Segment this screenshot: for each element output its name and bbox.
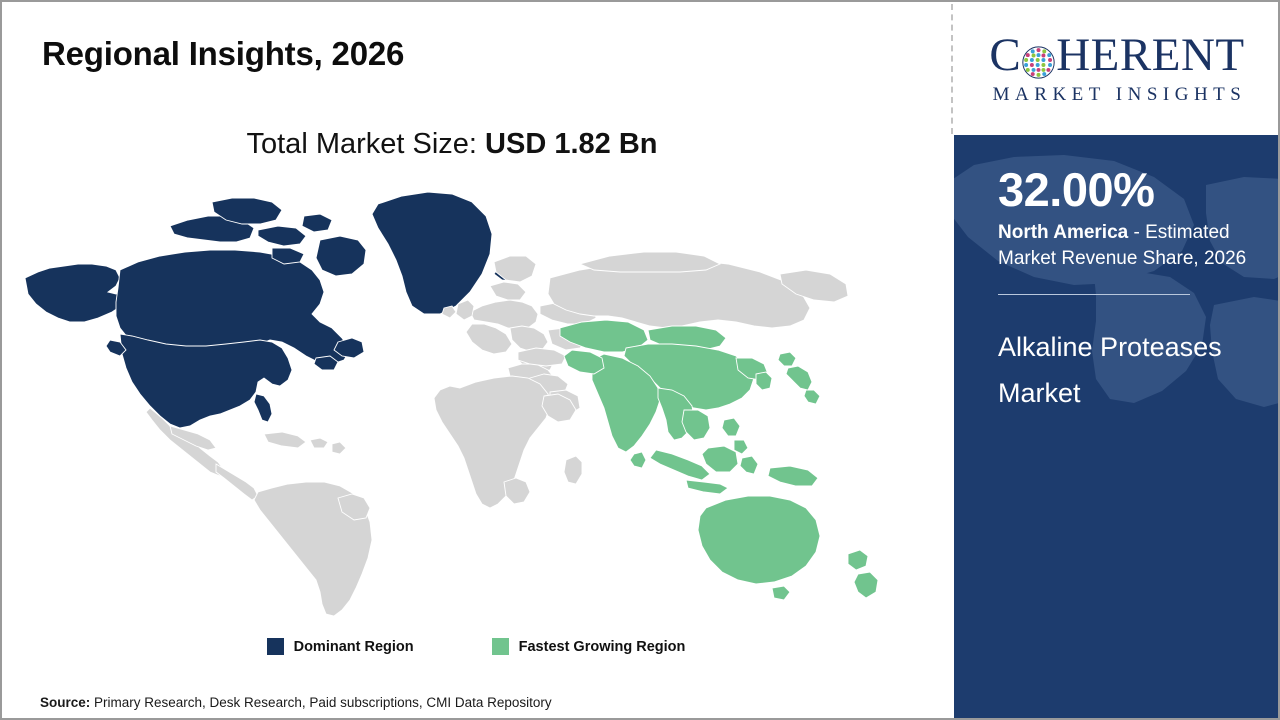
legend-item-fastest-growing: Fastest Growing Region <box>492 638 686 655</box>
globe-icon <box>1022 41 1055 74</box>
market-name: Alkaline Proteases Market <box>998 325 1270 417</box>
page-title: Regional Insights, 2026 <box>42 35 404 73</box>
logo-tagline: MARKET INSIGHTS <box>988 84 1247 106</box>
legend-swatch-fastest-growing <box>492 638 509 655</box>
legend-item-dominant: Dominant Region <box>267 638 414 655</box>
logo-letters-herent: HERENT <box>1056 32 1244 79</box>
brand-logo: C <box>954 2 1280 135</box>
stat-region-name: North America <box>998 222 1128 243</box>
legend-label-fastest-growing: Fastest Growing Region <box>519 639 686 655</box>
main-content-panel: Regional Insights, 2026 Total Market Siz… <box>2 2 950 718</box>
logo-wordmark: C <box>989 32 1244 79</box>
legend-label-dominant: Dominant Region <box>294 639 414 655</box>
market-size-label: Total Market Size: <box>247 128 486 160</box>
panel-divider <box>951 4 953 134</box>
source-text: Primary Research, Desk Research, Paid su… <box>90 695 551 710</box>
market-size-value: USD 1.82 Bn <box>485 128 657 160</box>
legend-swatch-dominant <box>267 638 284 655</box>
logo-letter-c: C <box>989 32 1021 79</box>
regional-insights-infographic: Regional Insights, 2026 Total Market Siz… <box>0 0 1280 720</box>
stat-description: North America - Estimated Market Revenue… <box>998 220 1270 271</box>
map-legend: Dominant Region Fastest Growing Region <box>2 638 950 655</box>
world-map-container <box>20 182 900 622</box>
stat-value: 32.00% <box>998 165 1270 214</box>
panel-divider-rule <box>998 294 1190 295</box>
source-label: Source: <box>40 695 90 710</box>
stat-panel-content: 32.00% North America - Estimated Market … <box>998 165 1270 416</box>
stat-panel: 32.00% North America - Estimated Market … <box>954 135 1280 720</box>
world-map-svg <box>20 182 900 622</box>
region-asia-pacific <box>560 320 878 600</box>
source-line: Source: Primary Research, Desk Research,… <box>40 695 552 710</box>
total-market-size: Total Market Size: USD 1.82 Bn <box>2 128 902 161</box>
